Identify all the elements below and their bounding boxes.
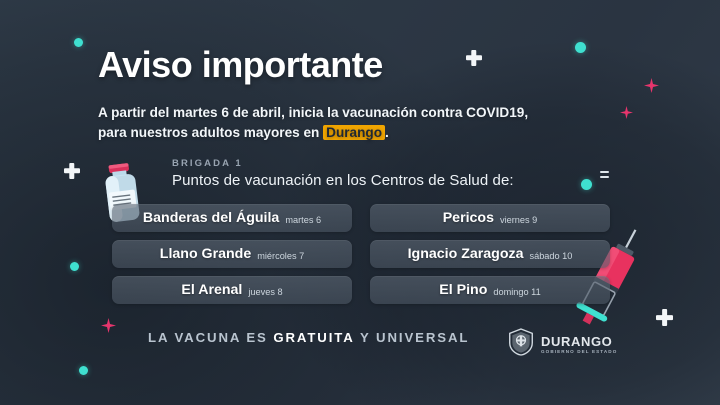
durango-government-logo: DURANGO GOBIERNO DEL ESTADO [508, 328, 617, 361]
location-name: Banderas del Águila [143, 210, 279, 226]
vaccination-announcement-poster: Aviso importante A partir del martes 6 d… [0, 0, 720, 405]
list-item[interactable]: El Pino domingo 11 [370, 276, 610, 304]
list-item[interactable]: Llano Grande miércoles 7 [112, 240, 352, 268]
lead-paragraph: A partir del martes 6 de abril, inicia l… [98, 103, 568, 144]
sparkle-icon [644, 78, 659, 93]
plus-cross-icon [466, 50, 482, 66]
list-item[interactable]: Banderas del Águila martes 6 [112, 204, 352, 232]
location-date: jueves 8 [248, 287, 282, 297]
sparkle-icon [101, 318, 116, 333]
dash-mark-icon [600, 171, 609, 173]
brigada-label: BRIGADA 1 [172, 158, 243, 169]
location-date: miércoles 7 [257, 251, 304, 261]
slogan-prefix: LA VACUNA ES [148, 330, 273, 345]
page-title: Aviso importante [98, 44, 383, 86]
teal-dot-icon [70, 262, 79, 271]
location-date: sábado 10 [529, 251, 572, 261]
lead-line-2-suffix: . [385, 125, 389, 140]
location-name: El Pino [439, 282, 487, 298]
teal-dot-icon [74, 38, 83, 47]
teal-dot-icon [79, 366, 88, 375]
footer-slogan: LA VACUNA ES GRATUITA Y UNIVERSAL [148, 330, 469, 345]
logo-text: DURANGO GOBIERNO DEL ESTADO [541, 335, 617, 355]
location-date: domingo 11 [493, 287, 540, 297]
lead-line-2-prefix: para nuestros adultos mayores en [98, 125, 323, 140]
locations-column-right: Pericos viernes 9 Ignacio Zaragoza sábad… [370, 204, 610, 312]
locations-column-left: Banderas del Águila martes 6 Llano Grand… [112, 204, 352, 312]
logo-name: DURANGO [541, 335, 617, 348]
location-name: Ignacio Zaragoza [408, 246, 524, 262]
plus-cross-icon [64, 163, 80, 179]
highlight-durango: Durango [323, 125, 385, 140]
slogan-suffix: Y UNIVERSAL [355, 330, 470, 345]
location-name: Pericos [443, 210, 494, 226]
logo-subtitle: GOBIERNO DEL ESTADO [541, 350, 617, 355]
teal-dot-icon [575, 42, 586, 53]
location-name: Llano Grande [160, 246, 251, 262]
lead-line-1: A partir del martes 6 de abril, inicia l… [98, 105, 528, 120]
location-date: viernes 9 [500, 215, 537, 225]
teal-dot-icon [581, 179, 592, 190]
shield-crest-icon [508, 328, 534, 361]
sparkle-icon [620, 106, 633, 119]
section-subtitle: Puntos de vacunación en los Centros de S… [172, 172, 514, 189]
list-item[interactable]: El Arenal jueves 8 [112, 276, 352, 304]
slogan-emphasis: GRATUITA [273, 330, 354, 345]
location-name: El Arenal [181, 282, 242, 298]
list-item[interactable]: Pericos viernes 9 [370, 204, 610, 232]
location-date: martes 6 [285, 215, 321, 225]
list-item[interactable]: Ignacio Zaragoza sábado 10 [370, 240, 610, 268]
dash-mark-icon [600, 176, 609, 178]
